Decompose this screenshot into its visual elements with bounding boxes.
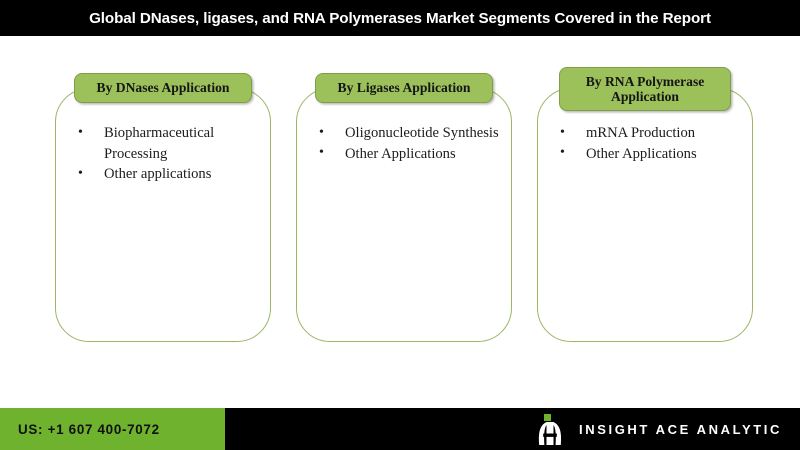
card-header-badge: By RNA Polymerase Application <box>559 67 731 111</box>
footer-bar: US: +1 607 400-7072 INSIGHT ACE ANALYTIC <box>0 408 800 450</box>
segment-card-dnases: By DNases Application Biopharmaceutical … <box>55 88 271 342</box>
segment-card-ligases: By Ligases Application Oligonucleotide S… <box>296 88 512 342</box>
list-item: Oligonucleotide Synthesis <box>315 123 501 144</box>
segment-list: Oligonucleotide Synthesis Other Applicat… <box>315 123 501 164</box>
logo-a-glyph-icon <box>537 422 563 445</box>
insightace-a-logo-icon <box>537 413 563 445</box>
footer-phone-block[interactable]: US: +1 607 400-7072 <box>0 408 225 450</box>
title-bar: Global DNases, ligases, and RNA Polymera… <box>0 0 800 36</box>
page-title: Global DNases, ligases, and RNA Polymera… <box>89 10 711 27</box>
card-header-label: By DNases Application <box>97 80 230 95</box>
list-item: Biopharmaceutical Processing <box>74 123 260 164</box>
card-header-label: By Ligases Application <box>338 80 471 95</box>
brand-name-label: INSIGHT ACE ANALYTIC <box>579 422 782 437</box>
card-header-badge: By Ligases Application <box>315 73 493 103</box>
list-item: Other Applications <box>556 144 742 165</box>
list-item: Other applications <box>74 164 260 185</box>
footer-phone-label: US: +1 607 400-7072 <box>0 422 160 437</box>
segment-list: mRNA Production Other Applications <box>556 123 742 164</box>
segment-cards: By DNases Application Biopharmaceutical … <box>0 36 800 404</box>
list-item: mRNA Production <box>556 123 742 144</box>
segment-card-rna-polymerase: By RNA Polymerase Application mRNA Produ… <box>537 88 753 342</box>
card-header-badge: By DNases Application <box>74 73 252 103</box>
list-item: Other Applications <box>315 144 501 165</box>
footer-brand: INSIGHT ACE ANALYTIC <box>537 408 782 450</box>
card-header-label: By RNA Polymerase Application <box>566 74 724 104</box>
logo-dot-icon <box>544 414 551 421</box>
segment-list: Biopharmaceutical Processing Other appli… <box>74 123 260 185</box>
slide-root: Global DNases, ligases, and RNA Polymera… <box>0 0 800 450</box>
